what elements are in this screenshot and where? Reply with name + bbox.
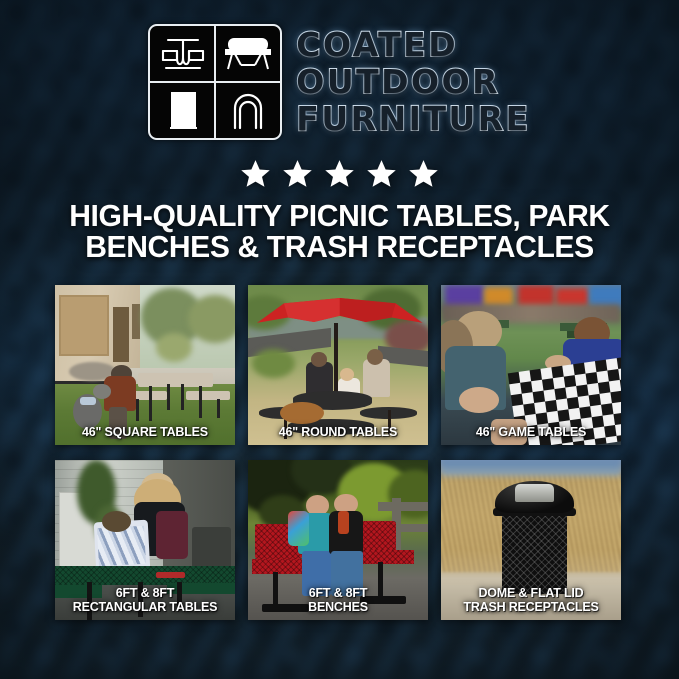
product-caption-benches: 6FT & 8FT BENCHES [252,586,425,614]
headline-line-1: HIGH-QUALITY PICNIC TABLES, PARK [69,198,610,233]
trash-receptacle-icon [149,81,216,139]
product-caption-round-tables: 46" ROUND TABLES [252,425,425,439]
brand-wordmark: COATED OUTDOOR FURNITURE [296,27,530,137]
product-caption-square-tables: 46" SQUARE TABLES [59,425,232,439]
product-tile-game-tables[interactable]: 46" GAME TABLES [441,285,621,445]
caption-line: DOME & FLAT LID [447,586,614,600]
product-tile-trash-receptacles[interactable]: DOME & FLAT LID TRASH RECEPTACLES [441,460,621,620]
caption-line: 6FT & 8FT [61,586,228,600]
caption-line: 46" ROUND TABLES [254,425,421,439]
product-caption-trash-receptacles: DOME & FLAT LID TRASH RECEPTACLES [445,586,618,614]
product-caption-rectangular-tables: 6FT & 8FT RECTANGULAR TABLES [59,586,232,614]
product-caption-game-tables: 46" GAME TABLES [445,425,618,439]
product-tile-benches[interactable]: 6FT & 8FT BENCHES [248,460,428,620]
star-icon [407,158,440,195]
star-icon [281,158,314,195]
picnic-table-icon [149,25,216,83]
caption-line: 46" GAME TABLES [447,425,614,439]
caption-line: 6FT & 8FT [254,586,421,600]
caption-line: RECTANGULAR TABLES [61,600,228,614]
product-photo-square-tables [55,285,235,445]
headline-line-2: BENCHES & TRASH RECEPTACLES [37,231,641,262]
product-photo-round-tables [248,285,428,445]
star-icon [239,158,272,195]
product-grid: 46" SQUARE TABLES [55,285,626,620]
brand-logo: COATED OUTDOOR FURNITURE [0,24,679,140]
product-tile-round-tables[interactable]: 46" ROUND TABLES [248,285,428,445]
four-quadrant-furniture-logo [148,24,282,140]
star-icon [365,158,398,195]
bike-rack-icon [214,81,281,139]
brand-word-coated: COATED [296,27,530,63]
advertisement-poster: COATED OUTDOOR FURNITURE HIGH-QUALITY PI… [0,0,679,679]
star-rating [0,158,679,195]
product-tile-square-tables[interactable]: 46" SQUARE TABLES [55,285,235,445]
brand-word-outdoor: OUTDOOR [296,64,530,100]
caption-line: TRASH RECEPTACLES [447,600,614,614]
caption-line: 46" SQUARE TABLES [61,425,228,439]
product-tile-rectangular-tables[interactable]: 6FT & 8FT RECTANGULAR TABLES [55,460,235,620]
brand-word-furniture: FURNITURE [296,101,530,137]
bench-icon [214,25,281,83]
star-icon [323,158,356,195]
product-photo-game-tables [441,285,621,445]
caption-line: BENCHES [254,600,421,614]
headline: HIGH-QUALITY PICNIC TABLES, PARK BENCHES… [37,200,641,262]
